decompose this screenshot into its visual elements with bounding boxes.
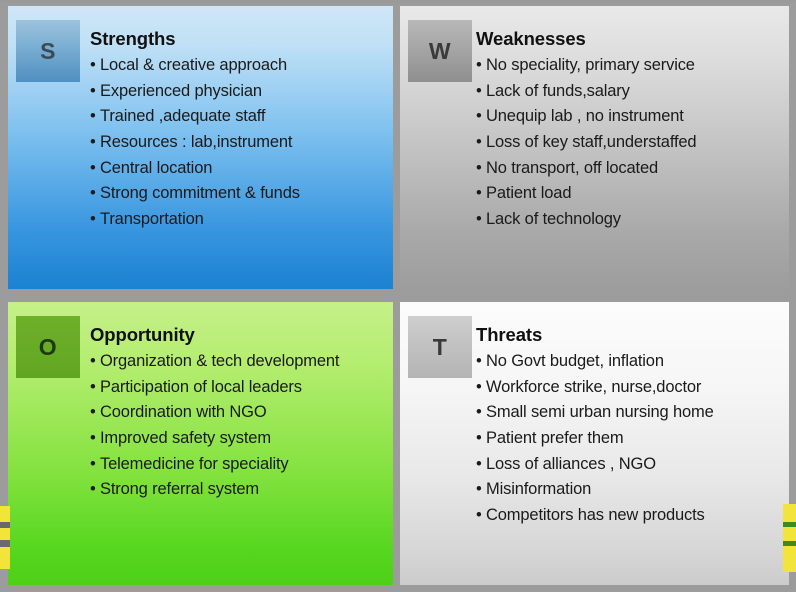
- opportunity-title: Opportunity: [90, 324, 385, 346]
- list-item: Unequip lab , no instrument: [476, 105, 781, 129]
- edge-mark: [0, 506, 10, 522]
- edge-mark: [783, 527, 796, 541]
- list-item: Participation of local leaders: [90, 376, 385, 400]
- list-item: Experienced physician: [90, 80, 385, 104]
- edge-mark: [783, 504, 796, 522]
- list-item: Competitors has new products: [476, 504, 781, 528]
- right-edge-marks: [783, 500, 796, 592]
- edge-mark: [0, 547, 10, 569]
- list-item: Central location: [90, 157, 385, 181]
- list-item: Patient prefer them: [476, 427, 781, 451]
- edge-mark: [783, 546, 796, 572]
- list-item: No transport, off located: [476, 157, 781, 181]
- list-item: Small semi urban nursing home: [476, 401, 781, 425]
- strengths-content: Strengths Local & creative approach Expe…: [90, 28, 385, 233]
- list-item: Workforce strike, nurse,doctor: [476, 376, 781, 400]
- opportunity-list: Organization & tech development Particip…: [90, 350, 385, 502]
- quadrant-weaknesses: W Weaknesses No speciality, primary serv…: [400, 6, 789, 289]
- threats-title: Threats: [476, 324, 781, 346]
- weaknesses-list: No speciality, primary service Lack of f…: [476, 54, 781, 231]
- list-item: Strong commitment & funds: [90, 182, 385, 206]
- opportunity-content: Opportunity Organization & tech developm…: [90, 324, 385, 504]
- list-item: Resources : lab,instrument: [90, 131, 385, 155]
- strengths-title: Strengths: [90, 28, 385, 50]
- list-item: No Govt budget, inflation: [476, 350, 781, 374]
- list-item: Lack of technology: [476, 208, 781, 232]
- list-item: Patient load: [476, 182, 781, 206]
- left-edge-marks: [0, 500, 10, 592]
- list-item: Strong referral system: [90, 478, 385, 502]
- badge-threats: T: [408, 316, 472, 378]
- edge-mark: [0, 528, 10, 540]
- list-item: No speciality, primary service: [476, 54, 781, 78]
- list-item: Coordination with NGO: [90, 401, 385, 425]
- threats-content: Threats No Govt budget, inflation Workfo…: [476, 324, 781, 529]
- quadrant-threats: T Threats No Govt budget, inflation Work…: [400, 302, 789, 585]
- weaknesses-title: Weaknesses: [476, 28, 781, 50]
- list-item: Lack of funds,salary: [476, 80, 781, 104]
- quadrant-strengths: S Strengths Local & creative approach Ex…: [8, 6, 393, 289]
- list-item: Loss of key staff,understaffed: [476, 131, 781, 155]
- edge-mark: [0, 540, 10, 547]
- list-item: Organization & tech development: [90, 350, 385, 374]
- weaknesses-content: Weaknesses No speciality, primary servic…: [476, 28, 781, 233]
- swot-diagram: S Strengths Local & creative approach Ex…: [0, 0, 796, 592]
- list-item: Transportation: [90, 208, 385, 232]
- badge-opportunity: O: [16, 316, 80, 378]
- list-item: Loss of alliances , NGO: [476, 453, 781, 477]
- list-item: Improved safety system: [90, 427, 385, 451]
- top-frame-line: [0, 0, 796, 3]
- threats-list: No Govt budget, inflation Workforce stri…: [476, 350, 781, 527]
- list-item: Trained ,adequate staff: [90, 105, 385, 129]
- badge-weaknesses: W: [408, 20, 472, 82]
- list-item: Telemedicine for speciality: [90, 453, 385, 477]
- badge-strengths: S: [16, 20, 80, 82]
- quadrant-opportunity: O Opportunity Organization & tech develo…: [8, 302, 393, 585]
- list-item: Misinformation: [476, 478, 781, 502]
- strengths-list: Local & creative approach Experienced ph…: [90, 54, 385, 231]
- list-item: Local & creative approach: [90, 54, 385, 78]
